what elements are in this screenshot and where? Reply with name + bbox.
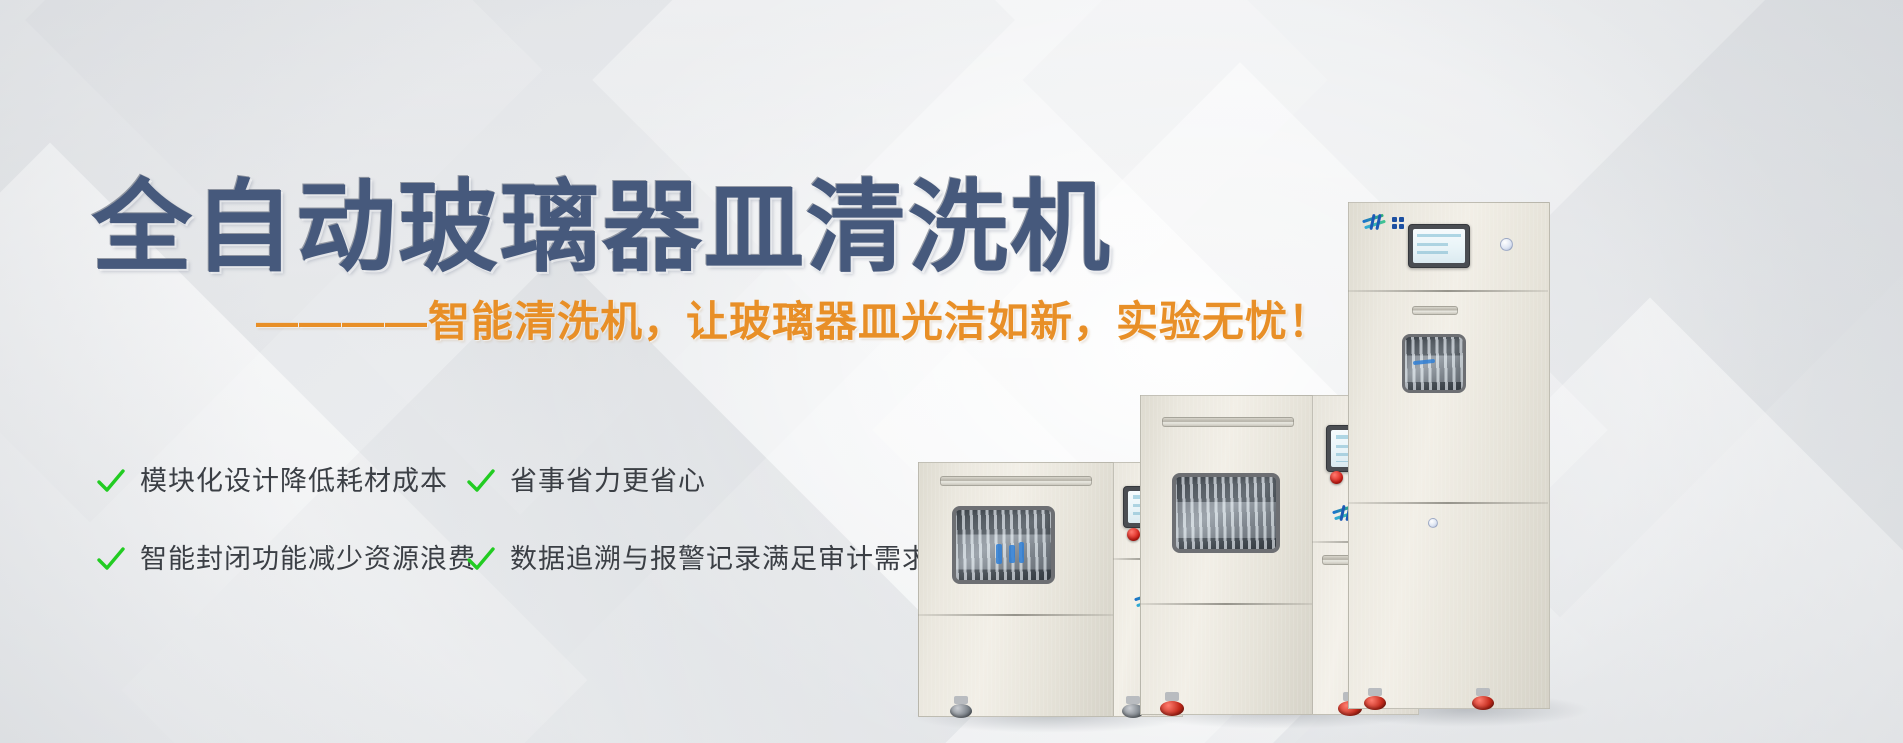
caster-wheel: [1472, 688, 1494, 708]
viewing-window: [1402, 334, 1466, 393]
feature-row: 模块化设计降低耗材成本 省事省力更省心: [96, 466, 996, 496]
product-washer-tall: [1348, 202, 1548, 707]
door-handle: [940, 476, 1092, 486]
viewing-window: [1172, 473, 1280, 553]
caster-wheel: [1160, 692, 1184, 714]
feature-item-2: 省事省力更省心: [466, 466, 706, 496]
feature-row: 智能封闭功能减少资源浪费 数据追溯与报警记录满足审计需求: [96, 544, 996, 574]
feature-item-3: 智能封闭功能减少资源浪费: [96, 544, 466, 574]
product-hero-banner: 全自动玻璃器皿清洗机 ————智能清洗机，让玻璃器皿光洁如新，实验无忧！ 模块化…: [0, 0, 1903, 743]
emergency-stop-button[interactable]: [1127, 528, 1140, 541]
hmi-touch-panel[interactable]: [1408, 224, 1470, 268]
caster-wheel: [950, 696, 972, 716]
caster-wheel: [1364, 688, 1386, 708]
feature-label: 模块化设计降低耗材成本: [140, 468, 448, 495]
viewing-window: [952, 506, 1055, 584]
check-icon: [96, 466, 126, 496]
check-icon: [96, 544, 126, 574]
door-latch[interactable]: [1428, 518, 1438, 528]
feature-label: 数据追溯与报警记录满足审计需求: [510, 546, 930, 573]
door-handle: [1412, 306, 1458, 315]
feature-item-1: 模块化设计降低耗材成本: [96, 466, 466, 496]
feature-label: 省事省力更省心: [510, 468, 706, 495]
check-icon: [466, 544, 496, 574]
feature-label: 智能封闭功能减少资源浪费: [140, 546, 476, 573]
feature-list: 模块化设计降低耗材成本 省事省力更省心: [96, 466, 996, 574]
power-button[interactable]: [1500, 238, 1513, 251]
feature-item-4: 数据追溯与报警记录满足审计需求: [466, 544, 930, 574]
emergency-stop-button[interactable]: [1330, 471, 1343, 484]
product-image-group: [900, 0, 1903, 743]
door-handle: [1162, 417, 1294, 427]
check-icon: [466, 466, 496, 496]
brand-logo: [1362, 214, 1404, 232]
